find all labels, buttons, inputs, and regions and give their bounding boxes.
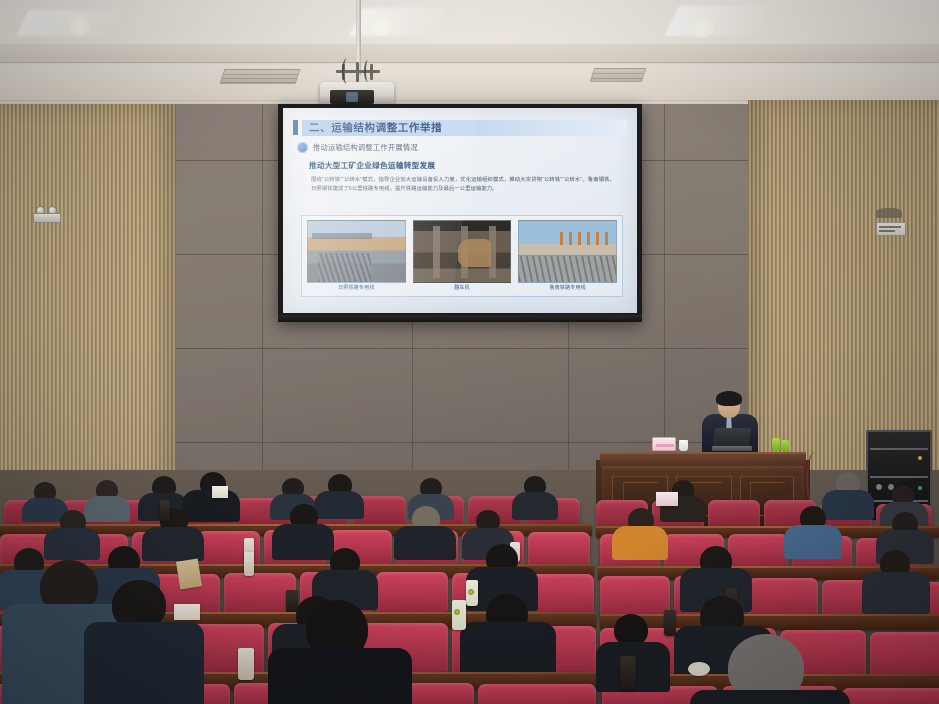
- green-bottle-icon: [781, 440, 789, 451]
- slide-body-text: 围绕“公转铁”“公转水”模式，指导企业加大运输设备投入力度，优化运输组织模式，推…: [293, 176, 627, 195]
- slide-title: 二、运输结构调整工作举措: [302, 120, 442, 135]
- thermos-cup: [238, 648, 254, 680]
- title-accent-bar: [293, 120, 298, 135]
- tissue-box-icon: [652, 437, 676, 451]
- thermos-cup-floral: [466, 580, 478, 606]
- laptop-icon: [712, 428, 752, 452]
- wall-speaker-icon: [876, 208, 902, 218]
- presentation-slide: 二、运输结构调整工作举措 推动运输结构调整工作开展情况 推动大型工矿企业绿色运输…: [283, 108, 637, 313]
- projection-screen-frame: 二、运输结构调整工作举措 推动运输结构调整工作开展情况 推动大型工矿企业绿色运输…: [278, 104, 642, 322]
- photo-gantry-crane-icon: [518, 220, 617, 283]
- paper-sheet: [174, 604, 200, 620]
- thermos-cup: [664, 610, 676, 636]
- wall-sign-plate: [876, 222, 906, 236]
- emergency-light-icon: [33, 205, 61, 223]
- downlight-icon: [690, 14, 714, 38]
- projector-cable: [364, 60, 372, 82]
- projection-screen: 二、运输结构调整工作举措 推动运输结构调整工作开展情况 推动大型工矿企业绿色运输…: [283, 108, 637, 313]
- paper-cup-icon: [679, 440, 688, 451]
- bullet-circle-icon: [297, 142, 308, 153]
- ceiling-seam: [0, 62, 939, 63]
- slide-subtitle-row: 推动运输结构调整工作开展情况: [293, 142, 627, 153]
- slide-title-row: 二、运输结构调整工作举措: [293, 119, 627, 136]
- ceiling-light-slot: [349, 8, 447, 36]
- air-vent: [590, 68, 647, 82]
- photo-caption: 日照铁路专用线: [307, 283, 406, 294]
- thermos-cup: [244, 552, 254, 576]
- left-wall-slat-panel: [0, 104, 176, 504]
- downlight-icon: [68, 14, 90, 36]
- photo-caption: 鲁南铁路专用线: [518, 283, 617, 294]
- downlight-icon: [370, 14, 392, 36]
- slide-subtitle: 推动运输结构调整工作开展情况: [313, 143, 418, 153]
- slide-photo-cell: 翻车机: [413, 220, 512, 294]
- thermos-cup-floral: [452, 600, 466, 630]
- paper-cup-top: [688, 662, 710, 676]
- title-bar: 二、运输结构调整工作举措: [302, 120, 627, 136]
- paper-sheet: [656, 492, 678, 506]
- projector-cable: [342, 58, 352, 84]
- slide-lead-heading: 推动大型工矿企业绿色运输转型发展: [293, 160, 627, 171]
- thermos-cup: [160, 500, 170, 522]
- ceiling-soffit: [0, 44, 939, 62]
- ceiling-light-slot: [665, 6, 772, 36]
- photo-railway-spur-icon: [307, 220, 406, 283]
- photo-railcar-dumper-icon: [413, 220, 512, 283]
- paper-sheet: [212, 486, 228, 498]
- air-vent: [220, 69, 301, 84]
- paper-booklet: [176, 558, 202, 589]
- thermos-cup: [620, 656, 636, 690]
- projector-lens-icon: [330, 90, 374, 104]
- slide-photo-cell: 日照铁路专用线: [307, 220, 406, 294]
- slide-photo-cell: 鲁南铁路专用线: [518, 220, 617, 294]
- green-bottle-icon: [772, 438, 780, 451]
- conference-room-photo: 二、运输结构调整工作举措 推动运输结构调整工作开展情况 推动大型工矿企业绿色运输…: [0, 0, 939, 704]
- slide-photo-group: 日照铁路专用线 翻车机 鲁南铁路专用线: [301, 215, 623, 297]
- photo-caption: 翻车机: [413, 283, 512, 294]
